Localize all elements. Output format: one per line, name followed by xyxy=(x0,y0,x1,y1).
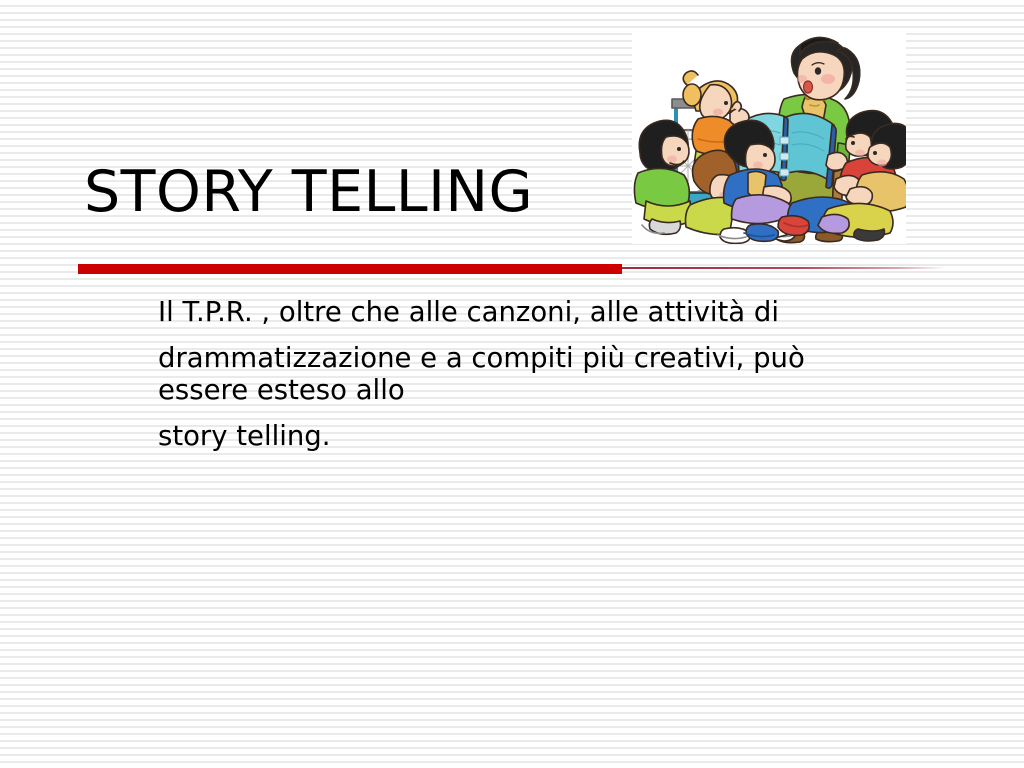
title-divider xyxy=(78,263,945,274)
body-paragraph-3: story telling. xyxy=(158,421,858,453)
teacher-reading-to-children-icon xyxy=(632,33,906,244)
divider-trailing-line xyxy=(622,267,945,269)
page-title: STORY TELLING xyxy=(84,163,533,223)
illustration-frame xyxy=(632,33,906,244)
body-paragraph-2: drammatizzazione e a compiti più creativ… xyxy=(158,343,858,407)
divider-accent-bar xyxy=(78,264,622,274)
body-paragraph-1: Il T.P.R. , oltre che alle canzoni, alle… xyxy=(158,297,858,329)
slide-canvas: STORY TELLING Il T.P.R. , oltre che alle… xyxy=(0,0,1024,768)
slide-body-text: Il T.P.R. , oltre che alle canzoni, alle… xyxy=(158,297,858,453)
